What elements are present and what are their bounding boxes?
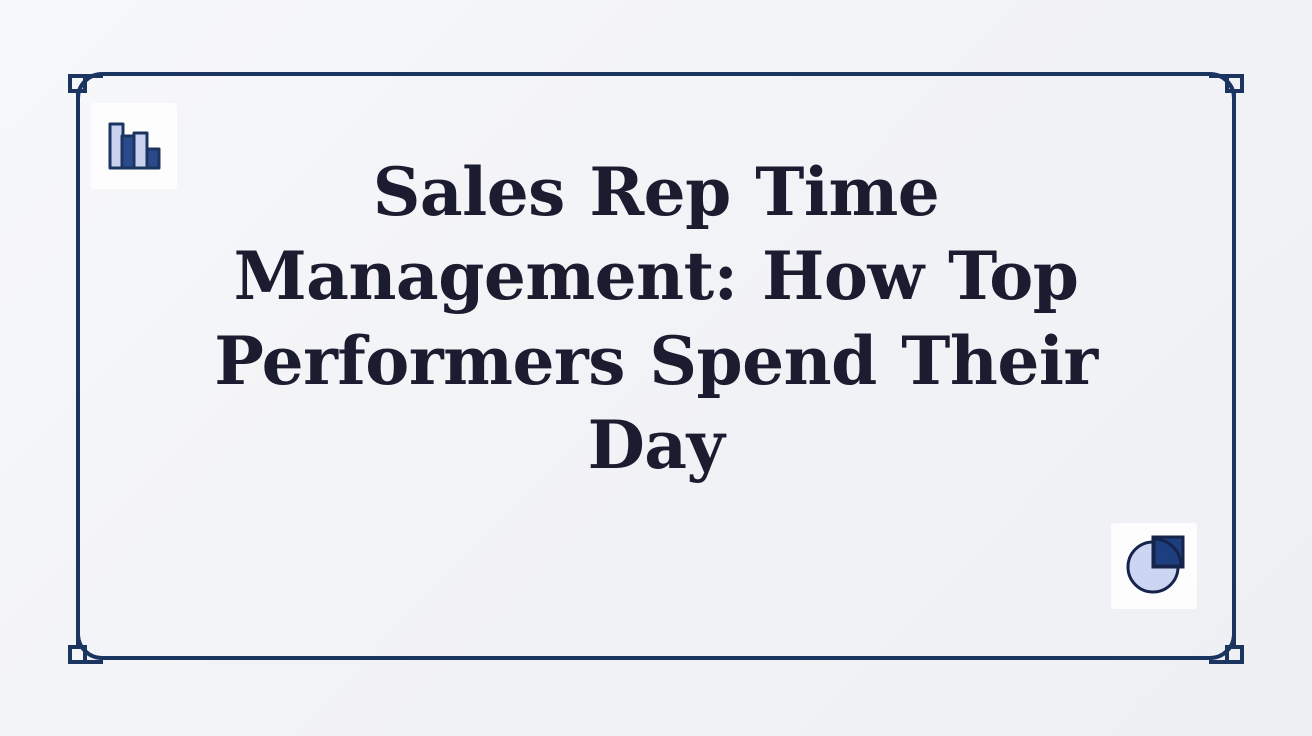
corner-ornament-bottom-right	[1225, 645, 1244, 664]
corner-stub-top-left-horizontal	[87, 74, 103, 78]
corner-stub-top-right-horizontal	[1209, 74, 1225, 78]
bar-chart-icon-stamp	[92, 104, 176, 188]
corner-stub-bottom-right-horizontal	[1209, 660, 1225, 664]
corner-stub-bottom-right-vertical	[1232, 629, 1236, 645]
corner-stub-top-right-vertical	[1232, 89, 1236, 105]
title-block: Sales Rep Time Management: How Top Perfo…	[196, 150, 1116, 488]
pie-chart-icon	[1123, 535, 1185, 597]
corner-stub-bottom-left-horizontal	[87, 660, 103, 664]
slide-title: Sales Rep Time Management: How Top Perfo…	[196, 150, 1116, 488]
slide-canvas: Sales Rep Time Management: How Top Perfo…	[0, 0, 1312, 736]
corner-stub-bottom-left-vertical	[76, 629, 80, 645]
corner-ornament-bottom-left	[68, 645, 87, 664]
bar-chart-icon	[106, 120, 162, 172]
pie-chart-icon-stamp	[1112, 524, 1196, 608]
corner-stub-top-left-vertical	[76, 89, 80, 105]
